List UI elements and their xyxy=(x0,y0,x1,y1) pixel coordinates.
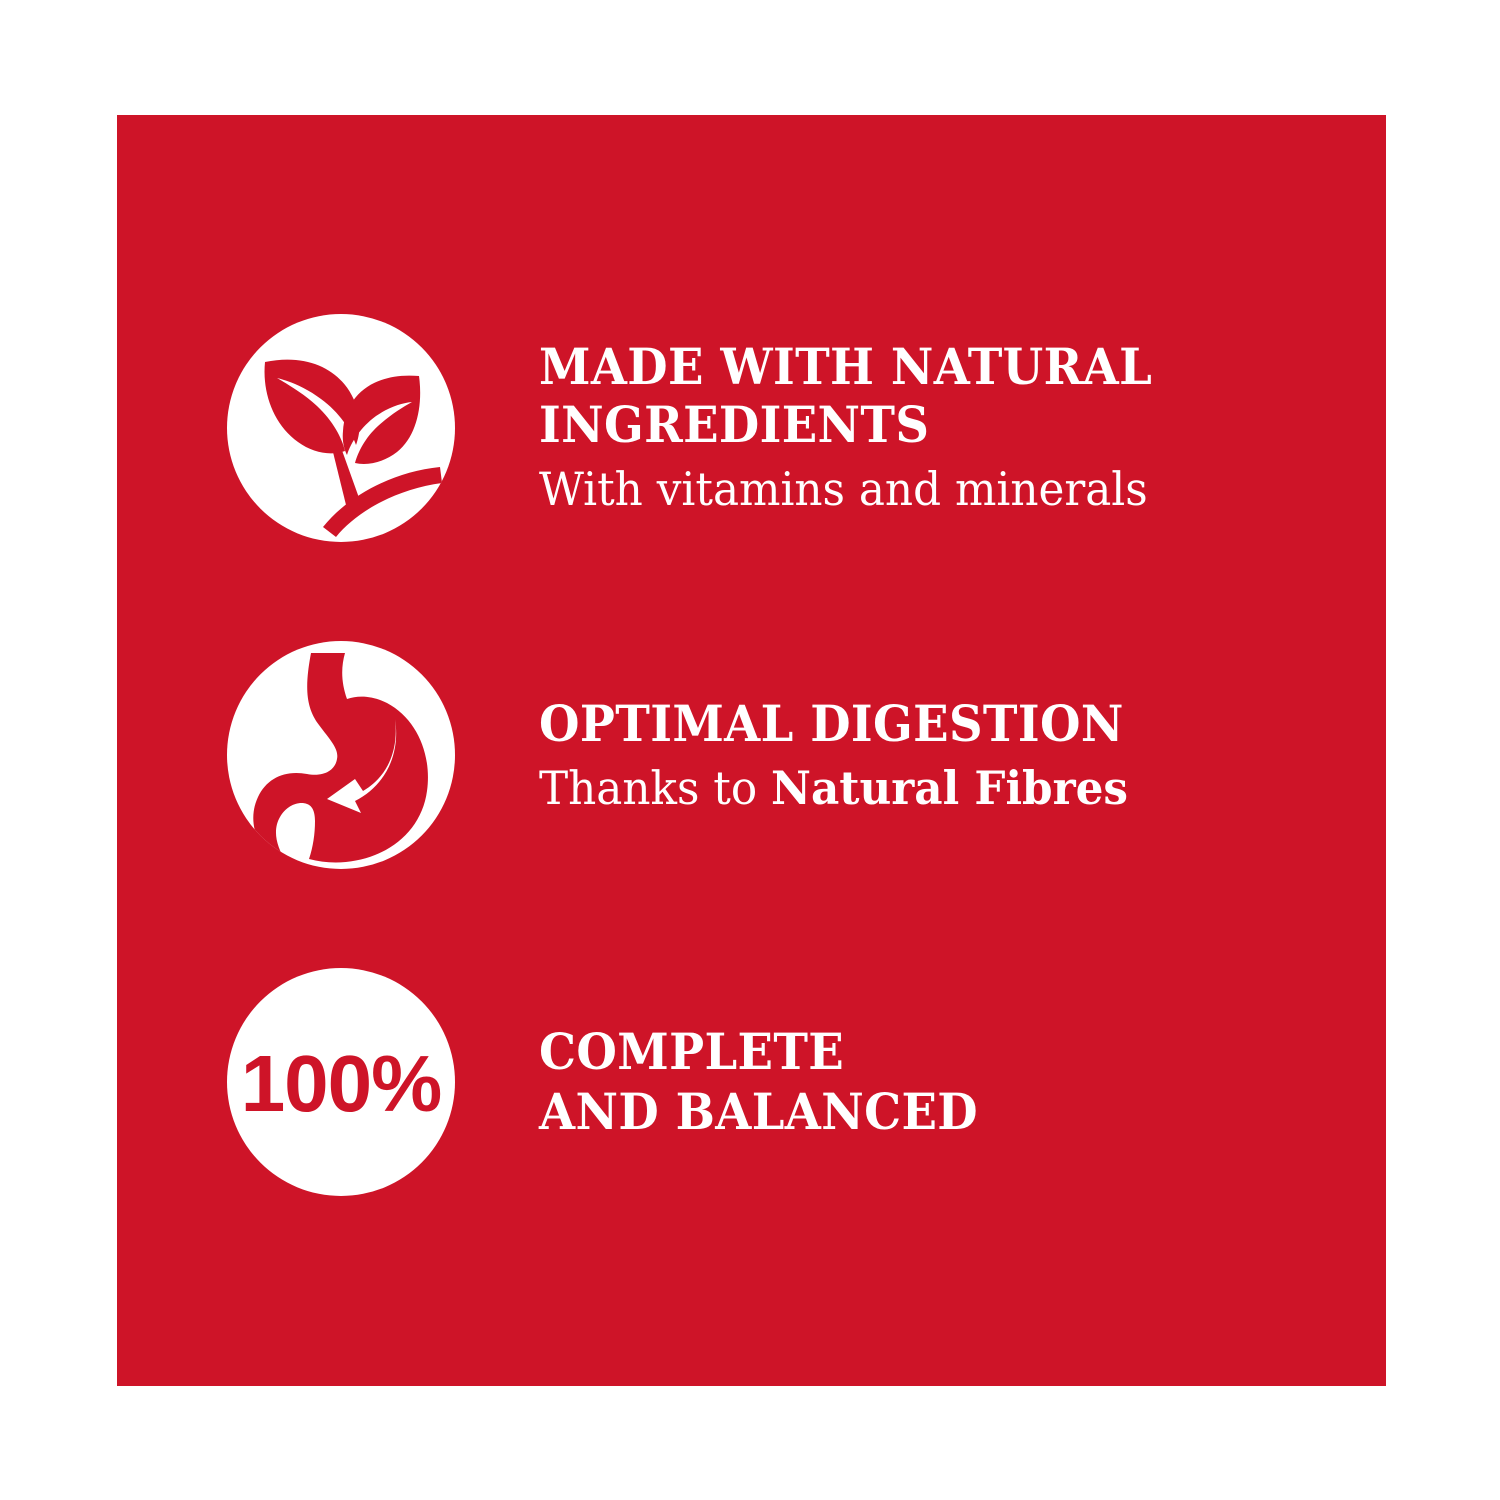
benefit-row: 100% COMPLETE AND BALANCED xyxy=(227,968,1011,1196)
sprout-plant-icon xyxy=(227,314,455,542)
benefit-copy: MADE WITH NATURAL INGREDIENTS With vitam… xyxy=(539,338,1198,517)
badge-circle-natural-ingredients xyxy=(227,314,455,542)
badge-circle-optimal-digestion xyxy=(227,641,455,869)
poster-canvas: MADE WITH NATURAL INGREDIENTS With vitam… xyxy=(0,0,1500,1500)
badge-circle-complete-balanced: 100% xyxy=(227,968,455,1196)
benefit-subline: Thanks to Natural Fibres xyxy=(539,761,1136,816)
benefit-headline: MADE WITH NATURAL INGREDIENTS xyxy=(539,338,1152,454)
benefit-row: OPTIMAL DIGESTION Thanks to Natural Fibr… xyxy=(227,641,1168,869)
benefit-headline: COMPLETE AND BALANCED xyxy=(539,1022,978,1142)
benefit-subline-prefix: With vitamins and minerals xyxy=(539,462,1148,516)
benefit-subline-strong: Natural Fibres xyxy=(771,761,1128,815)
percent-100-badge-label: 100% xyxy=(241,1044,442,1124)
benefit-copy: OPTIMAL DIGESTION Thanks to Natural Fibr… xyxy=(539,695,1168,816)
stomach-digestion-icon xyxy=(227,641,455,869)
benefit-copy: COMPLETE AND BALANCED xyxy=(539,1022,1011,1142)
benefit-subline: With vitamins and minerals xyxy=(539,462,1165,517)
benefit-headline: OPTIMAL DIGESTION xyxy=(539,695,1124,753)
benefit-row: MADE WITH NATURAL INGREDIENTS With vitam… xyxy=(227,314,1198,542)
benefit-subline-prefix: Thanks to xyxy=(539,761,771,815)
